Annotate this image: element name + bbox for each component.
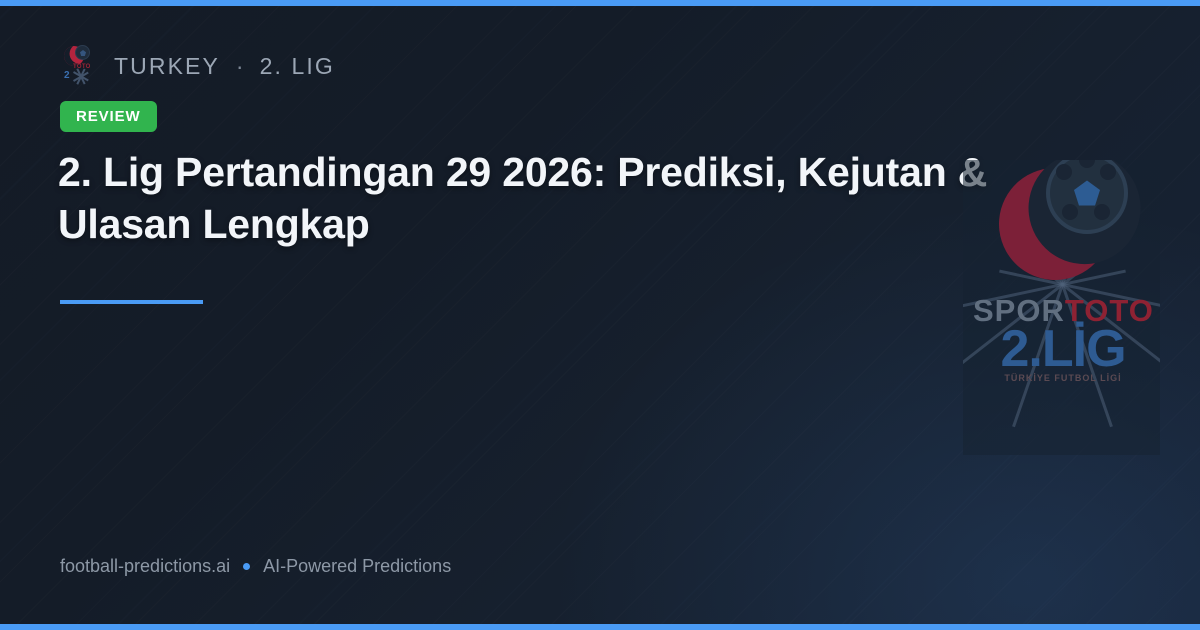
title-accent-line — [60, 300, 203, 304]
top-accent-bar — [0, 0, 1200, 6]
status-badge: REVIEW — [60, 101, 157, 132]
footer-tagline-label: AI-Powered Predictions — [263, 556, 451, 577]
hero-football-pentagon-icon — [1074, 181, 1100, 206]
league-logo-toto-text: TOTO — [73, 64, 91, 70]
league-label: 2. LIG — [260, 53, 335, 80]
share-card: TOTO 2 TURKEY · 2. LIG REVIEW 2. Lig Per… — [0, 0, 1200, 630]
footer-site-label: football-predictions.ai — [60, 556, 230, 577]
hero-logo-tagline: TÜRKİYE FUTBOL LİGİ — [973, 373, 1153, 383]
hero-league-logo: SPORTOTO 2.LİG TÜRKİYE FUTBOL LİGİ — [963, 160, 1160, 455]
bottom-accent-bar — [0, 624, 1200, 630]
country-label: TURKEY — [114, 53, 220, 80]
league-logo-rays-icon — [66, 68, 96, 86]
header-separator: · — [234, 53, 246, 80]
league-logo-lig-text: 2 — [64, 70, 70, 81]
footer: football-predictions.ai AI-Powered Predi… — [60, 556, 451, 577]
page-title: 2. Lig Pertandingan 29 2026: Prediksi, K… — [58, 146, 1058, 250]
blue-dot-icon — [243, 563, 250, 570]
league-header: TOTO 2 TURKEY · 2. LIG — [60, 44, 335, 88]
football-icon — [75, 45, 90, 60]
hero-logo-division-text: 2.LİG — [973, 323, 1153, 375]
league-logo-icon: TOTO 2 — [60, 44, 100, 88]
